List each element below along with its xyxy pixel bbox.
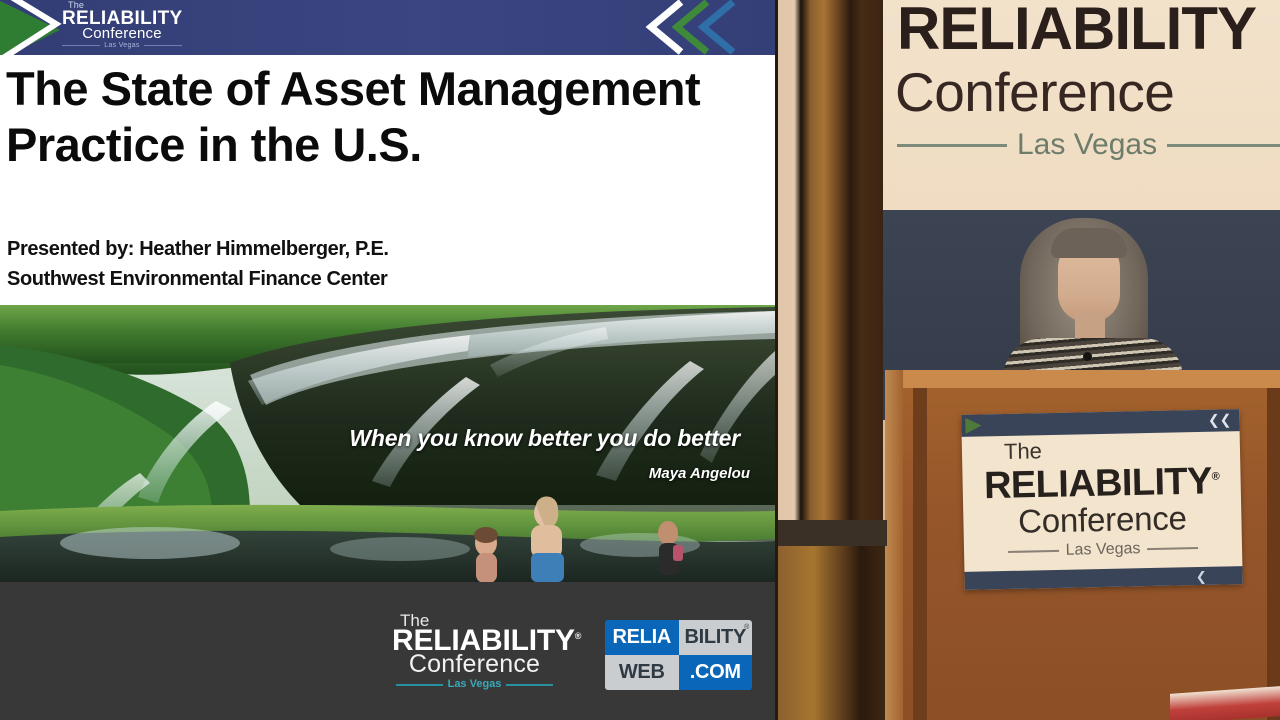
backdrop-conference: Conference	[895, 60, 1174, 124]
speaker-lapel-mic-icon	[1083, 352, 1092, 361]
video-left-edge	[775, 0, 778, 720]
rw-text-web: WEB	[619, 661, 665, 684]
white-chevron-icon	[0, 0, 64, 55]
slide-header-bar: The RELIABILITY Conference Las Vegas	[0, 0, 775, 55]
slide-quote: When you know better you do better	[0, 425, 740, 452]
footer-logo-conference: Conference	[392, 652, 557, 677]
podium-sign-body: The RELIABILITY® Conference Las Vegas	[962, 431, 1243, 572]
podium-sign-rule-left	[1008, 550, 1059, 553]
header-logo-location: Las Vegas	[104, 42, 139, 49]
podium-left-edge	[885, 370, 903, 720]
backdrop-rule-left	[897, 144, 1007, 147]
podium-sign-bottom-chevron-icon: ❮	[1196, 570, 1207, 584]
rw-cell-web: WEB	[605, 655, 679, 690]
header-conference-logo: The RELIABILITY Conference Las Vegas	[62, 1, 182, 54]
podium-sign-registered-mark: ®	[1212, 471, 1220, 483]
rw-cell-relia: RELIA	[605, 620, 679, 655]
footer-conference-logo: The RELIABILITY® Conference Las Vegas	[392, 612, 557, 694]
podium-sign-green-chevron-icon	[965, 418, 981, 434]
podium-sign-rule-right	[1147, 547, 1198, 550]
header-rule-left	[62, 45, 100, 46]
byline-presenter: Presented by: Heather Himmelberger, P.E.	[7, 234, 707, 264]
backdrop-rule-right	[1167, 144, 1280, 147]
podium-left-groove	[913, 388, 927, 720]
presentation-player: The RELIABILITY Conference Las Vegas Th	[0, 0, 1280, 720]
footer-logo-registered-mark: ®	[575, 631, 581, 641]
slide-waterfall-image: When you know better you do better Maya …	[0, 305, 775, 582]
podium-sign: ❮❮ The RELIABILITY® Conference Las Vegas…	[961, 409, 1243, 590]
header-chevrons-icon	[635, 0, 755, 55]
pillar-lower	[775, 546, 885, 720]
rw-text-bility: BILITY	[684, 626, 746, 649]
podium-sign-reliability: RELIABILITY®	[962, 457, 1241, 505]
slide-panel: The RELIABILITY Conference Las Vegas Th	[0, 0, 775, 720]
slide-byline: Presented by: Heather Himmelberger, P.E.…	[7, 234, 707, 294]
footer-rule-left	[396, 684, 443, 686]
header-logo-location-row: Las Vegas	[62, 42, 182, 49]
footer-rule-right	[506, 684, 553, 686]
podium-sign-chevron-icon: ❮❮	[1208, 412, 1232, 426]
rw-cell-bility: BILITY®	[679, 620, 753, 655]
podium-right-edge	[1267, 388, 1280, 720]
backdrop-reliability: RELIABILITY	[897, 0, 1256, 63]
backdrop-banner: RELIABILITY Conference Las Vegas	[855, 0, 1280, 212]
backdrop-location-row: Las Vegas	[897, 128, 1280, 162]
rw-registered-mark: ®	[744, 624, 749, 631]
footer-logo-location: Las Vegas	[448, 679, 502, 690]
podium-sign-location: Las Vegas	[1066, 540, 1141, 560]
speaker-video-panel: RELIABILITY Conference Las Vegas	[775, 0, 1280, 720]
byline-organization: Southwest Environmental Finance Center	[7, 264, 707, 294]
slide-title: The State of Asset Management Practice i…	[6, 61, 751, 173]
slide-quote-author: Maya Angelou	[0, 465, 750, 482]
reliabilityweb-logo: RELIA BILITY® WEB .COM	[605, 620, 752, 690]
header-rule-right	[144, 45, 182, 46]
backdrop-location: Las Vegas	[1017, 128, 1157, 162]
podium-sign-location-row: Las Vegas	[964, 538, 1242, 562]
pillar-shelf	[775, 520, 887, 546]
rw-text-dotcom: .COM	[690, 661, 741, 684]
footer-logo-location-row: Las Vegas	[392, 679, 557, 690]
slide-title-block: The State of Asset Management Practice i…	[0, 55, 775, 305]
rw-cell-dotcom: .COM	[679, 655, 753, 690]
podium-top-edge	[885, 370, 1280, 388]
speaker-hair-fringe	[1051, 228, 1127, 258]
rw-text-relia: RELIA	[612, 626, 671, 649]
